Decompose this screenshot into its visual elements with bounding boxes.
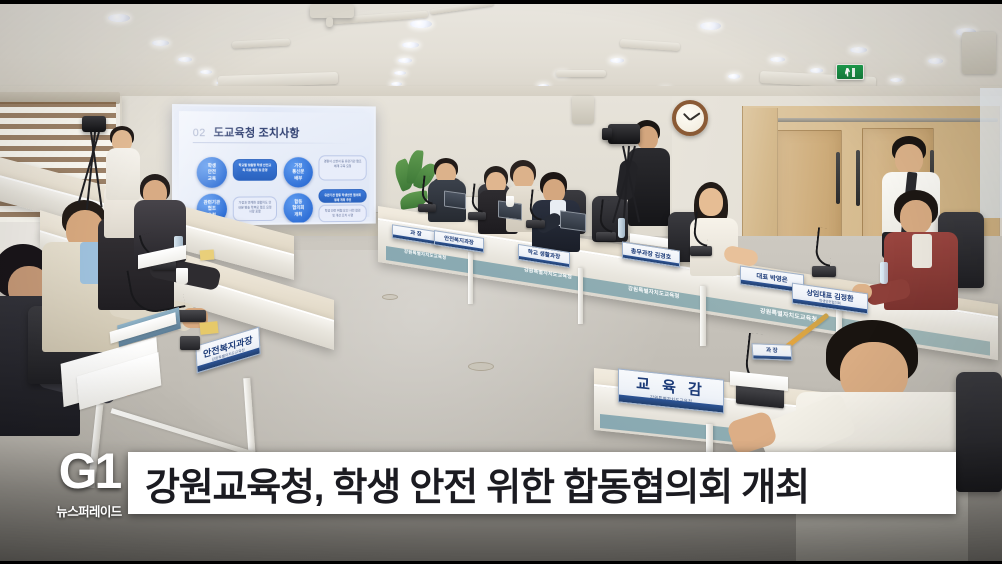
- downlight: [810, 68, 823, 73]
- slide-bubble-4: 합동 협의회 개최: [284, 193, 313, 223]
- slide-callout-4: 유관기관 합동 학생안전 협의회 정례 개최 추진: [318, 189, 366, 203]
- slide-title-underline: [193, 142, 353, 144]
- headline-text: 강원교육청, 학생 안전 위한 합동협의회 개최: [128, 456, 809, 511]
- downlight: [152, 40, 169, 46]
- downlight: [700, 22, 721, 30]
- downlight: [610, 58, 624, 63]
- downlight: [200, 70, 212, 74]
- door-top-rail: [760, 118, 998, 122]
- floor-outlet-port: [468, 362, 494, 371]
- downlight: [770, 57, 785, 62]
- downlight: [410, 20, 432, 28]
- remote-control: [180, 336, 200, 350]
- slide-callout-1: 학교별 맞춤형 학생 안전교육 자료 배포 및 운영: [233, 159, 277, 181]
- door-handle[interactable]: [836, 152, 840, 204]
- sticky-note: [200, 250, 215, 261]
- floor-outlet-port: [382, 294, 398, 300]
- slide-callout-2: 가정과 연계한 생활지도 안내문 발송 학부모 협조 요청 사항 포함: [233, 196, 277, 221]
- slide-number: 02: [193, 127, 206, 139]
- microphone-base: [526, 220, 545, 228]
- downlight: [928, 58, 943, 64]
- video-camera-left: [82, 116, 106, 132]
- microphone-base: [176, 310, 206, 322]
- tablet-screen: [560, 210, 586, 232]
- downlight: [108, 14, 130, 22]
- downlight: [394, 71, 406, 75]
- sticky-note: [199, 321, 218, 335]
- downlight: [850, 47, 867, 53]
- slide-callout-5: 학생 안전 위협 요인 사전 점검 및 개선 조치 시행: [318, 204, 366, 222]
- headline-banner: 강원교육청, 학생 안전 위한 합동협의회 개최: [128, 452, 956, 514]
- tablet-screen: [444, 190, 466, 209]
- nameplate-name: 과 장: [766, 349, 778, 355]
- projection-screen: 02 도교육청 조치사항 학생 안전 교육 관련기관 협조 요청 가정 통신문 …: [172, 104, 376, 226]
- lower-third-graphic: G1 뉴스퍼레이드 강원교육청, 학생 안전 위한 합동협의회 개최: [0, 440, 1002, 564]
- wall-speaker: [962, 32, 996, 74]
- downlight: [398, 58, 412, 63]
- slide-title-row: 02 도교육청 조치사항: [193, 124, 360, 141]
- exit-sign: [836, 64, 864, 80]
- torso: [106, 148, 140, 200]
- slide-bubble-1: 학생 안전 교육: [197, 157, 227, 188]
- program-name-label: 뉴스퍼레이드: [56, 501, 121, 520]
- wall-speaker: [572, 96, 594, 124]
- table-leg: [468, 252, 473, 304]
- ceiling-projector-arm: [326, 17, 333, 27]
- paper-cup: [506, 196, 514, 207]
- broadcast-frame: 02 도교육청 조치사항 학생 안전 교육 관련기관 협조 요청 가정 통신문 …: [0, 0, 1002, 564]
- downlight: [402, 42, 419, 48]
- head: [900, 200, 932, 234]
- microphone-base: [690, 246, 712, 256]
- nameplate-bar: [753, 355, 791, 359]
- network-logo-mark: G1: [59, 446, 120, 496]
- slide-surface: 02 도교육청 조치사항 학생 안전 교육 관련기관 협조 요청 가정 통신문 …: [179, 111, 369, 219]
- clock-minute-hand: [690, 112, 701, 120]
- microphone-base: [812, 266, 836, 277]
- microphone-base: [418, 204, 436, 212]
- window-right: [980, 88, 1002, 218]
- wall-clock: [672, 100, 708, 136]
- shirt: [912, 234, 932, 268]
- downlight: [728, 74, 740, 79]
- microphone-base: [468, 212, 486, 220]
- downlight: [890, 78, 902, 82]
- microphone-base: [596, 232, 616, 241]
- head: [637, 126, 658, 150]
- video-camera-right: [608, 124, 640, 144]
- door-handle[interactable]: [856, 150, 860, 206]
- water-bottle: [618, 218, 625, 238]
- water-bottle: [880, 262, 888, 284]
- letterbox-top: [0, 0, 1002, 4]
- ceiling-projector: [310, 4, 354, 18]
- nameplate-name: 교 육 감: [636, 376, 706, 398]
- exit-runner-icon: [845, 68, 850, 77]
- nameplate-head-right: 과 장: [751, 343, 792, 360]
- ceiling-aircon-diffuser: [556, 70, 606, 77]
- slide-bubble-3: 가정 통신문 배부: [284, 157, 313, 187]
- table-leg: [700, 286, 706, 346]
- slide-callout-3: 경찰서·소방서 등 유관기관 협조체계 구축 요청: [318, 155, 366, 180]
- slide-heading: 도교육청 조치사항: [214, 124, 300, 140]
- network-logo: G1 뉴스퍼레이드: [46, 446, 132, 522]
- table-leg: [578, 268, 583, 324]
- downlight: [178, 57, 192, 62]
- paper-cup: [176, 268, 188, 284]
- head: [895, 144, 923, 174]
- exit-door-icon: [852, 68, 855, 77]
- camera-lens-hood: [602, 128, 612, 140]
